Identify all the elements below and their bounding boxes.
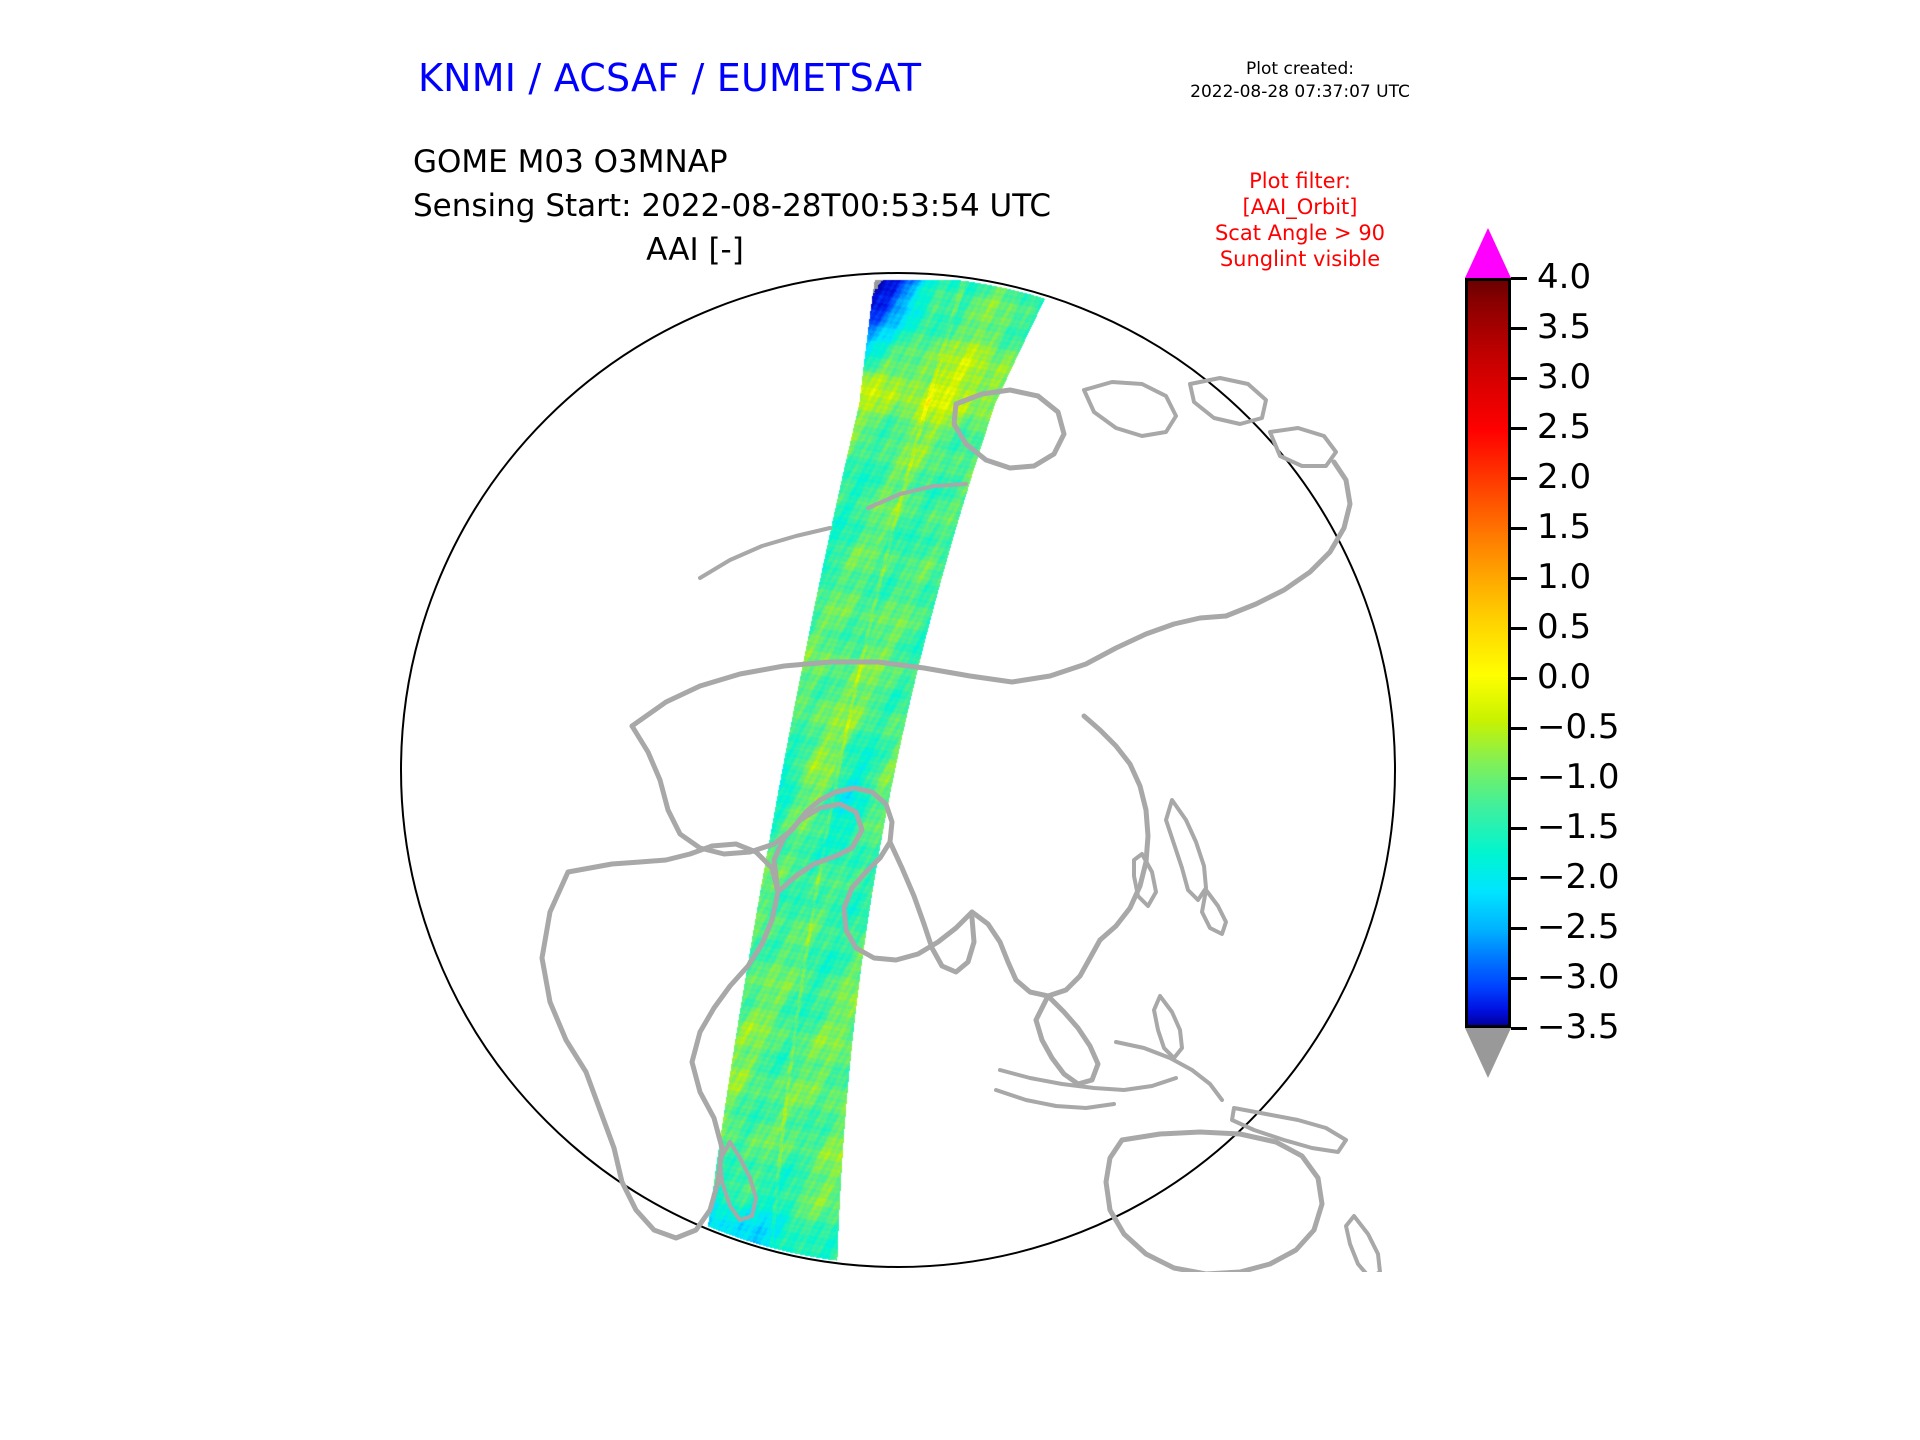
colorbar-tick (1511, 677, 1527, 680)
coastline-paths (542, 378, 1398, 1272)
colorbar-tick (1511, 627, 1527, 630)
colorbar-tick-label: −1.5 (1537, 810, 1620, 844)
colorbar-tick-label: 4.0 (1537, 260, 1591, 294)
colorbar-tick-label: −1.0 (1537, 760, 1620, 794)
product-title-block: GOME M03 O3MNAP Sensing Start: 2022-08-2… (413, 140, 1051, 228)
colorbar-tick (1511, 827, 1527, 830)
plot-created-label: Plot created: (1150, 58, 1450, 81)
colorbar-tick (1511, 877, 1527, 880)
plot-created-block: Plot created: 2022-08-28 07:37:07 UTC (1150, 58, 1450, 104)
colorbar-tick-label: −0.5 (1537, 710, 1620, 744)
colorbar-tick-label: 3.5 (1537, 310, 1591, 344)
sensing-start: Sensing Start: 2022-08-28T00:53:54 UTC (413, 184, 1051, 228)
plot-created-value: 2022-08-28 07:37:07 UTC (1150, 81, 1450, 104)
colorbar-tick-label: 3.0 (1537, 360, 1591, 394)
colorbar-tick-label: 0.5 (1537, 610, 1591, 644)
colorbar: 4.03.53.02.52.01.51.00.50.0−0.5−1.0−1.5−… (1455, 228, 1875, 1088)
colorbar-tick-label: 0.0 (1537, 660, 1591, 694)
product-name: GOME M03 O3MNAP (413, 140, 1051, 184)
colorbar-tick-label: −3.0 (1537, 960, 1620, 994)
colorbar-tick (1511, 477, 1527, 480)
colorbar-tick (1511, 1027, 1527, 1030)
colorbar-tick (1511, 727, 1527, 730)
colorbar-tick (1511, 927, 1527, 930)
colorbar-over-arrow (1465, 228, 1511, 278)
colorbar-gradient (1465, 278, 1511, 1028)
colorbar-tick (1511, 577, 1527, 580)
plot-filter-label: Plot filter: (1190, 168, 1410, 194)
axes-title: AAI [-] (0, 232, 1390, 268)
colorbar-tick (1511, 427, 1527, 430)
organization-title: KNMI / ACSAF / EUMETSAT (418, 56, 921, 100)
colorbar-under-arrow (1465, 1028, 1511, 1078)
colorbar-tick (1511, 527, 1527, 530)
colorbar-tick-label: −2.5 (1537, 910, 1620, 944)
colorbar-tick (1511, 277, 1527, 280)
colorbar-tick-label: 2.0 (1537, 460, 1591, 494)
coastlines-layer (400, 272, 1400, 1272)
colorbar-tick (1511, 377, 1527, 380)
map-panel (400, 272, 1400, 1272)
colorbar-tick-label: 1.5 (1537, 510, 1591, 544)
colorbar-tick (1511, 977, 1527, 980)
colorbar-tick-label: −3.5 (1537, 1010, 1620, 1044)
colorbar-tick-label: −2.0 (1537, 860, 1620, 894)
colorbar-tick (1511, 777, 1527, 780)
colorbar-tick (1511, 327, 1527, 330)
plot-filter-name: [AAI_Orbit] (1190, 194, 1410, 220)
colorbar-tick-label: 1.0 (1537, 560, 1591, 594)
colorbar-tick-label: 2.5 (1537, 410, 1591, 444)
